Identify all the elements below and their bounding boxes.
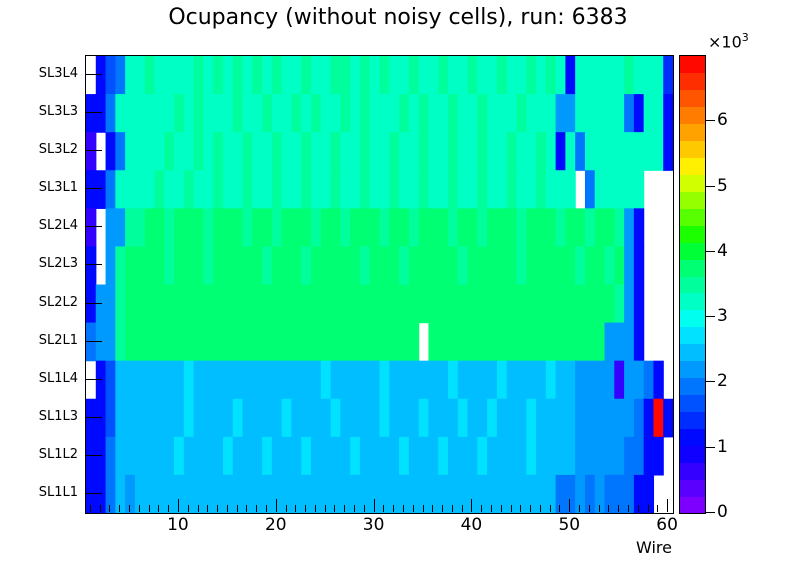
- heatmap-cell: [546, 94, 556, 133]
- x-axis-label: 20: [265, 515, 287, 535]
- heatmap-cell: [634, 361, 644, 400]
- heatmap-cell: [399, 399, 409, 438]
- heatmap-cell: [370, 56, 380, 95]
- z-axis-tick: [705, 447, 715, 448]
- heatmap-cell: [96, 475, 106, 513]
- z-axis-label: 6: [717, 110, 728, 130]
- heatmap-cell: [164, 285, 174, 324]
- heatmap-cell: [262, 208, 272, 247]
- x-axis-minor-tick: [657, 505, 658, 512]
- heatmap-cell: [380, 132, 390, 171]
- heatmap-cell: [145, 132, 155, 171]
- heatmap-cell: [468, 399, 478, 438]
- heatmap-cell: [507, 132, 517, 171]
- heatmap-cell: [399, 132, 409, 171]
- heatmap-cell: [311, 56, 321, 95]
- heatmap-cell: [106, 399, 116, 438]
- heatmap-cell: [96, 170, 106, 209]
- heatmap-cell: [595, 170, 605, 209]
- heatmap-cell: [135, 132, 145, 171]
- heatmap-cell: [282, 475, 292, 513]
- heatmap-cell: [272, 285, 282, 324]
- color-scale-band: [680, 395, 705, 412]
- heatmap-cell: [595, 94, 605, 133]
- heatmap-cell: [115, 208, 125, 247]
- heatmap-cell: [233, 246, 243, 285]
- heatmap-cell: [301, 170, 311, 209]
- heatmap-cell: [516, 361, 526, 400]
- heatmap-cell: [448, 94, 458, 133]
- x-axis-major-tick: [178, 499, 179, 512]
- heatmap-cell: [487, 285, 497, 324]
- heatmap-cell: [399, 94, 409, 133]
- heatmap-cell: [282, 361, 292, 400]
- color-scale-band: [680, 90, 705, 107]
- x-axis-minor-tick: [158, 505, 159, 512]
- heatmap-cell: [428, 475, 438, 513]
- heatmap-cell: [516, 323, 526, 362]
- heatmap-cell: [614, 285, 624, 324]
- heatmap-cell: [526, 323, 536, 362]
- heatmap-cell: [223, 323, 233, 362]
- x-axis-minor-tick: [462, 505, 463, 512]
- heatmap-cell: [634, 399, 644, 438]
- heatmap-cell: [233, 208, 243, 247]
- heatmap-cell: [389, 246, 399, 285]
- y-axis-label: SL1L4: [39, 372, 78, 385]
- heatmap-cell: [663, 399, 673, 438]
- heatmap-cell: [614, 56, 624, 95]
- heatmap-cell: [135, 246, 145, 285]
- heatmap-cell: [419, 94, 429, 133]
- heatmap-cell: [370, 437, 380, 476]
- heatmap-cell: [507, 94, 517, 133]
- heatmap-cell: [282, 170, 292, 209]
- heatmap-cell: [507, 399, 517, 438]
- heatmap-cell: [526, 132, 536, 171]
- heatmap-cell: [428, 437, 438, 476]
- heatmap-cell: [556, 208, 566, 247]
- heatmap-cell: [614, 361, 624, 400]
- heatmap-cell: [223, 437, 233, 476]
- heatmap-cell: [243, 246, 253, 285]
- heatmap-cell: [370, 399, 380, 438]
- heatmap-cell: [96, 94, 106, 133]
- heatmap-cell: [213, 475, 223, 513]
- heatmap-cell: [252, 132, 262, 171]
- heatmap-cell: [458, 94, 468, 133]
- heatmap-cell: [135, 94, 145, 133]
- heatmap-cell: [213, 323, 223, 362]
- heatmap-cell: [272, 246, 282, 285]
- heatmap-cell: [624, 246, 634, 285]
- heatmap-cell: [428, 132, 438, 171]
- heatmap-cell: [213, 94, 223, 133]
- heatmap-cell: [556, 285, 566, 324]
- heatmap-cell: [448, 437, 458, 476]
- heatmap-cell: [438, 323, 448, 362]
- heatmap-cell: [497, 208, 507, 247]
- heatmap-cell: [301, 323, 311, 362]
- heatmap-cell: [174, 170, 184, 209]
- heatmap-cell: [487, 170, 497, 209]
- heatmap-cell: [614, 475, 624, 513]
- heatmap-cell: [536, 323, 546, 362]
- x-axis-major-tick: [667, 499, 668, 512]
- heatmap-cell: [614, 94, 624, 133]
- heatmap-cell: [184, 56, 194, 95]
- heatmap-cell: [458, 170, 468, 209]
- heatmap-cell: [301, 246, 311, 285]
- heatmap-cell: [507, 208, 517, 247]
- heatmap-cell: [595, 475, 605, 513]
- heatmap-cell: [252, 285, 262, 324]
- z-axis-exponent: ×103: [708, 31, 749, 51]
- color-scale-bar[interactable]: [679, 55, 706, 514]
- heatmap-cell: [272, 475, 282, 513]
- heatmap-cell: [184, 361, 194, 400]
- heatmap-cell: [223, 399, 233, 438]
- heatmap-cell: [291, 56, 301, 95]
- heatmap-cell: [262, 170, 272, 209]
- y-axis-tick: [86, 303, 102, 304]
- color-scale-band: [680, 462, 705, 479]
- heatmap-cell: [605, 170, 615, 209]
- heatmap-cell: [468, 246, 478, 285]
- heatmap-cell: [477, 361, 487, 400]
- heatmap-cell: [350, 475, 360, 513]
- heatmap-cell: [282, 323, 292, 362]
- heatmap-cell: [380, 208, 390, 247]
- heatmap-cell: [321, 56, 331, 95]
- heatmap-cell: [624, 170, 634, 209]
- heatmap-cell: [409, 475, 419, 513]
- heatmap-plot-area[interactable]: [85, 55, 674, 514]
- heatmap-cell: [174, 437, 184, 476]
- heatmap-cell: [409, 246, 419, 285]
- x-axis-minor-tick: [129, 505, 130, 512]
- heatmap-cell: [243, 170, 253, 209]
- heatmap-cell: [624, 437, 634, 476]
- heatmap-cell: [468, 361, 478, 400]
- heatmap-cell: [565, 475, 575, 513]
- heatmap-cell: [135, 170, 145, 209]
- heatmap-cell: [448, 399, 458, 438]
- heatmap-cell: [164, 56, 174, 95]
- heatmap-cell: [448, 323, 458, 362]
- heatmap-cell: [184, 170, 194, 209]
- color-scale-band: [680, 344, 705, 361]
- heatmap-cell: [458, 208, 468, 247]
- heatmap-cell: [262, 361, 272, 400]
- y-axis: SL3L4SL3L3SL3L2SL3L1SL2L4SL2L3SL2L2SL2L1…: [0, 55, 78, 512]
- heatmap-cell: [243, 56, 253, 95]
- heatmap-cell: [653, 132, 663, 171]
- heatmap-cell: [213, 132, 223, 171]
- heatmap-cell: [125, 437, 135, 476]
- heatmap-cell: [428, 208, 438, 247]
- heatmap-cell: [389, 56, 399, 95]
- heatmap-cell: [154, 246, 164, 285]
- heatmap-cell: [516, 132, 526, 171]
- heatmap-cell: [605, 94, 615, 133]
- heatmap-cell: [370, 323, 380, 362]
- heatmap-cell: [243, 399, 253, 438]
- y-axis-label: SL3L4: [39, 67, 78, 80]
- color-scale-band: [680, 428, 705, 445]
- z-axis-tick: [705, 251, 715, 252]
- heatmap-cell: [164, 208, 174, 247]
- heatmap-cell: [477, 437, 487, 476]
- heatmap-cell: [565, 323, 575, 362]
- heatmap-cell: [438, 475, 448, 513]
- heatmap-cell: [125, 323, 135, 362]
- x-axis-minor-tick: [266, 505, 267, 512]
- heatmap-cell: [262, 285, 272, 324]
- heatmap-cell: [468, 208, 478, 247]
- heatmap-cell: [380, 170, 390, 209]
- heatmap-cell: [213, 437, 223, 476]
- chart-title: Ocupancy (without noisy cells), run: 638…: [0, 5, 796, 30]
- heatmap-cell: [380, 94, 390, 133]
- heatmap-cell: [115, 399, 125, 438]
- heatmap-cell: [575, 94, 585, 133]
- heatmap-cell: [438, 246, 448, 285]
- heatmap-cell: [438, 132, 448, 171]
- heatmap-cell: [86, 475, 96, 513]
- heatmap-cell: [448, 132, 458, 171]
- heatmap-cell: [350, 437, 360, 476]
- heatmap-cell: [614, 246, 624, 285]
- heatmap-cell: [575, 361, 585, 400]
- x-axis-minor-tick: [325, 505, 326, 512]
- y-axis-label: SL3L3: [39, 105, 78, 118]
- heatmap-cell: [282, 285, 292, 324]
- heatmap-cell: [135, 208, 145, 247]
- heatmap-cell: [233, 323, 243, 362]
- heatmap-cell: [321, 208, 331, 247]
- heatmap-cell: [282, 94, 292, 133]
- heatmap-cell: [585, 246, 595, 285]
- heatmap-cell: [605, 475, 615, 513]
- heatmap-cell: [653, 361, 663, 400]
- heatmap-cell: [233, 399, 243, 438]
- heatmap-cell: [605, 285, 615, 324]
- x-axis-major-tick: [374, 499, 375, 512]
- y-axis-tick: [86, 74, 102, 75]
- heatmap-cell: [194, 56, 204, 95]
- heatmap-cell: [115, 246, 125, 285]
- heatmap-cell: [380, 56, 390, 95]
- heatmap-cell: [526, 361, 536, 400]
- heatmap-cell: [203, 246, 213, 285]
- heatmap-cell: [663, 94, 673, 133]
- heatmap-cell: [468, 56, 478, 95]
- heatmap-cell: [311, 361, 321, 400]
- heatmap-cell: [644, 437, 654, 476]
- heatmap-cell: [291, 361, 301, 400]
- heatmap-cell: [507, 361, 517, 400]
- heatmap-cell: [634, 323, 644, 362]
- heatmap-cell: [448, 475, 458, 513]
- heatmap-cell: [213, 399, 223, 438]
- x-axis-minor-tick: [364, 505, 365, 512]
- heatmap-cell: [389, 208, 399, 247]
- heatmap-cell: [565, 208, 575, 247]
- heatmap-cell: [311, 285, 321, 324]
- heatmap-cell: [565, 246, 575, 285]
- heatmap-cell: [448, 361, 458, 400]
- heatmap-cell: [585, 437, 595, 476]
- heatmap-cell: [536, 475, 546, 513]
- heatmap-cell: [546, 170, 556, 209]
- heatmap-cell: [546, 399, 556, 438]
- heatmap-cell: [154, 399, 164, 438]
- heatmap-cell: [262, 323, 272, 362]
- heatmap-cell: [438, 285, 448, 324]
- heatmap-cell: [321, 399, 331, 438]
- heatmap-cell: [644, 475, 654, 513]
- heatmap-cell: [174, 208, 184, 247]
- heatmap-cell: [536, 56, 546, 95]
- heatmap-cell: [526, 475, 536, 513]
- heatmap-cell: [546, 323, 556, 362]
- heatmap-cell: [585, 132, 595, 171]
- z-exponent-prefix: ×10: [708, 32, 742, 51]
- heatmap-cell: [203, 399, 213, 438]
- heatmap-cell: [86, 285, 96, 324]
- heatmap-cell: [223, 208, 233, 247]
- heatmap-cell: [233, 94, 243, 133]
- heatmap-cell: [575, 246, 585, 285]
- heatmap-cell: [252, 94, 262, 133]
- heatmap-cell: [389, 475, 399, 513]
- heatmap-cell: [125, 285, 135, 324]
- heatmap-cell: [370, 246, 380, 285]
- heatmap-cell: [468, 437, 478, 476]
- heatmap-cell: [145, 437, 155, 476]
- heatmap-cell: [291, 132, 301, 171]
- heatmap-cell: [252, 170, 262, 209]
- y-axis-tick: [86, 226, 102, 227]
- heatmap-cell: [135, 285, 145, 324]
- heatmap-cell: [546, 361, 556, 400]
- heatmap-cell: [203, 132, 213, 171]
- heatmap-cell: [282, 208, 292, 247]
- heatmap-cell: [497, 94, 507, 133]
- heatmap-cell: [125, 132, 135, 171]
- color-scale-band: [680, 496, 705, 513]
- heatmap-cell: [380, 323, 390, 362]
- color-scale-axis: 0123456: [705, 55, 765, 512]
- y-axis-label: SL2L1: [39, 334, 78, 347]
- heatmap-cell: [477, 132, 487, 171]
- heatmap-cell: [458, 285, 468, 324]
- heatmap-cell: [321, 170, 331, 209]
- heatmap-cell: [233, 475, 243, 513]
- heatmap-cell: [556, 56, 566, 95]
- heatmap-cell: [194, 246, 204, 285]
- heatmap-cell: [145, 399, 155, 438]
- heatmap-cell: [291, 170, 301, 209]
- heatmap-cell: [595, 246, 605, 285]
- heatmap-cell: [360, 437, 370, 476]
- heatmap-cell: [399, 170, 409, 209]
- y-axis-tick: [86, 493, 102, 494]
- heatmap-cell: [154, 208, 164, 247]
- heatmap-cell: [389, 323, 399, 362]
- color-scale-band: [680, 208, 705, 225]
- heatmap-cell: [350, 361, 360, 400]
- heatmap-cell: [399, 475, 409, 513]
- heatmap-cell: [125, 475, 135, 513]
- heatmap-cell: [438, 437, 448, 476]
- heatmap-cell: [497, 475, 507, 513]
- heatmap-cell: [565, 285, 575, 324]
- heatmap-cell: [477, 208, 487, 247]
- heatmap-cell: [321, 132, 331, 171]
- heatmap-cell: [340, 475, 350, 513]
- heatmap-cell: [194, 132, 204, 171]
- heatmap-cell: [145, 94, 155, 133]
- heatmap-cell: [174, 285, 184, 324]
- x-axis-minor-tick: [442, 505, 443, 512]
- heatmap-cell: [174, 56, 184, 95]
- heatmap-cell: [605, 361, 615, 400]
- heatmap-cell: [634, 246, 644, 285]
- heatmap-cell: [585, 208, 595, 247]
- x-axis-minor-tick: [589, 505, 590, 512]
- heatmap-cell: [194, 475, 204, 513]
- heatmap-cell: [262, 399, 272, 438]
- heatmap-cell: [194, 399, 204, 438]
- heatmap-cell: [340, 323, 350, 362]
- color-scale-band: [680, 411, 705, 428]
- heatmap-cell: [213, 208, 223, 247]
- heatmap-cell: [624, 399, 634, 438]
- heatmap-cell: [605, 132, 615, 171]
- heatmap-cell: [624, 361, 634, 400]
- x-axis-minor-tick: [481, 505, 482, 512]
- heatmap-cell: [585, 94, 595, 133]
- heatmap-cell: [174, 323, 184, 362]
- heatmap-cell: [585, 170, 595, 209]
- heatmap-cell: [203, 475, 213, 513]
- heatmap-cell: [301, 56, 311, 95]
- heatmap-cell: [399, 323, 409, 362]
- heatmap-cell: [546, 475, 556, 513]
- heatmap-cell: [448, 285, 458, 324]
- color-scale-band: [680, 107, 705, 124]
- x-axis-minor-tick: [139, 505, 140, 512]
- heatmap-cell: [536, 170, 546, 209]
- heatmap-cell: [213, 170, 223, 209]
- heatmap-cell: [203, 170, 213, 209]
- heatmap-cell: [399, 361, 409, 400]
- heatmap-cell: [428, 94, 438, 133]
- heatmap-cell: [331, 399, 341, 438]
- heatmap-cell: [145, 475, 155, 513]
- heatmap-cell: [145, 361, 155, 400]
- heatmap-cell: [154, 56, 164, 95]
- heatmap-cell: [154, 437, 164, 476]
- heatmap-cell: [458, 56, 468, 95]
- heatmap-cell: [565, 132, 575, 171]
- heatmap-cell: [409, 208, 419, 247]
- heatmap-cell: [272, 208, 282, 247]
- heatmap-cell: [233, 56, 243, 95]
- heatmap-cell: [409, 361, 419, 400]
